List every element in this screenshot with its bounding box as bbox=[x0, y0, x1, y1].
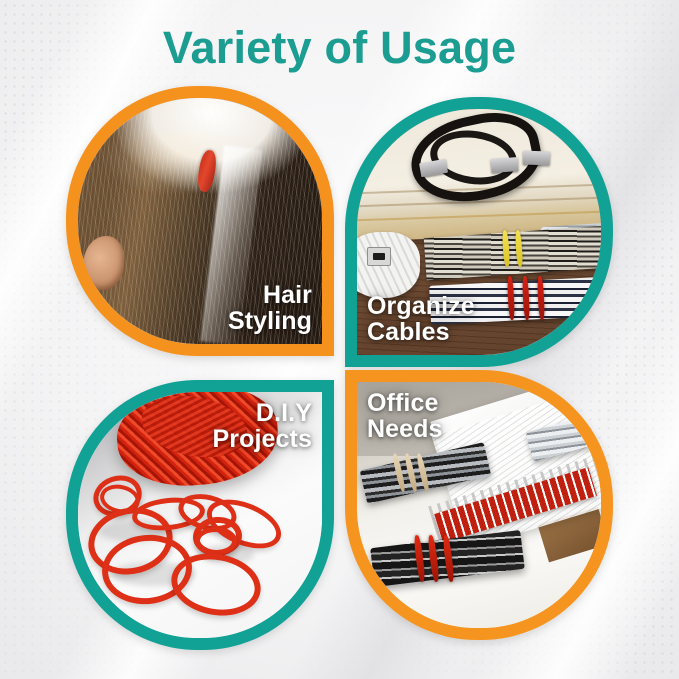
white-cable-plug bbox=[367, 247, 391, 266]
panel-office-needs[interactable]: Office Needs bbox=[345, 370, 613, 640]
panel-grid: Hair Styling bbox=[0, 86, 679, 662]
ear bbox=[83, 236, 124, 290]
panel-caption: Organize Cables bbox=[367, 293, 475, 345]
panel-hair-styling[interactable]: Hair Styling bbox=[66, 86, 334, 356]
panel-diy-projects[interactable]: D.I.Y Projects bbox=[66, 380, 334, 650]
paper-edge-line bbox=[357, 211, 601, 222]
panel-caption: D.I.Y Projects bbox=[213, 400, 312, 452]
panel-caption: Hair Styling bbox=[228, 282, 312, 334]
infographic-page: Variety of Usage Hair Styling bbox=[0, 0, 679, 679]
usb-connector bbox=[491, 157, 519, 172]
panel-organize-cables[interactable]: Organize Cables bbox=[345, 97, 613, 367]
usb-connector bbox=[523, 150, 550, 164]
page-title: Variety of Usage bbox=[0, 22, 679, 74]
panel-caption: Office Needs bbox=[367, 390, 443, 442]
rubber-band-coil bbox=[195, 527, 237, 554]
